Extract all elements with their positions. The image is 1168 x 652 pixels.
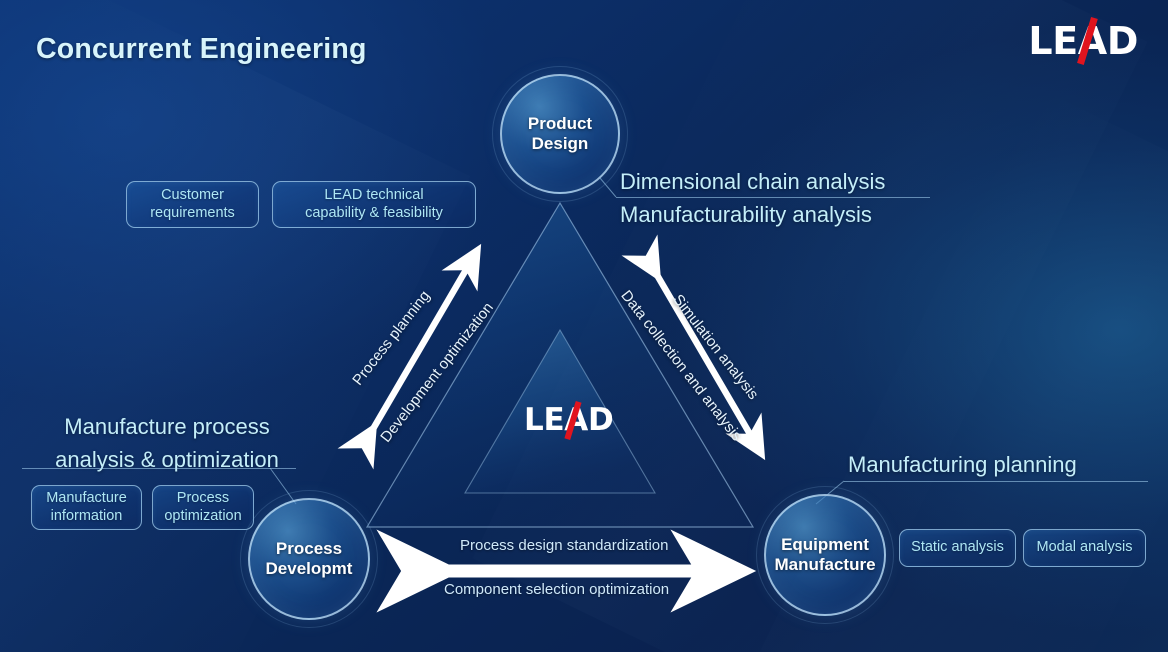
node-label-line2: Design	[528, 134, 592, 154]
arrow-label-process-planning: Process planning	[349, 288, 433, 389]
connector-topright	[600, 178, 616, 197]
rule-top-right	[616, 197, 930, 198]
heading-bottom-right: Manufacturing planning	[848, 448, 1077, 481]
heading-top-right: Dimensional chain analysis Manufacturabi…	[620, 165, 885, 232]
pill-lead-technical-capability[interactable]: LEAD technical capability & feasibility	[272, 181, 476, 228]
heading-line2: analysis & optimization	[22, 443, 312, 476]
node-label-line1: Process	[266, 539, 353, 559]
page-title: Concurrent Engineering	[36, 33, 367, 66]
pill-label-line1: Modal analysis	[1037, 539, 1133, 557]
node-label-line1: Product	[528, 114, 592, 134]
node-label-line1: Equipment	[774, 535, 875, 555]
pill-label-line2: information	[46, 508, 127, 526]
pill-manufacture-information[interactable]: Manufacture information	[31, 485, 142, 530]
heading-line2: Manufacturability analysis	[620, 198, 885, 231]
pill-label-line1: Process	[164, 490, 241, 508]
rule-left	[22, 468, 296, 469]
heading-line1: Manufacturing planning	[848, 448, 1077, 481]
pill-label-line1: LEAD technical	[305, 187, 443, 205]
pill-static-analysis[interactable]: Static analysis	[899, 529, 1016, 567]
node-product-design[interactable]: Product Design	[500, 74, 620, 194]
pill-label-line1: Manufacture	[46, 490, 127, 508]
pill-label-line1: Customer	[150, 187, 235, 205]
node-process-development[interactable]: Process Developmt	[248, 498, 370, 620]
lead-logo-header: LEAD	[1028, 22, 1138, 60]
heading-line1: Manufacture process	[22, 410, 312, 443]
node-label-line2: Manufacture	[774, 555, 875, 575]
node-label-line2: Developmt	[266, 559, 353, 579]
arrow-label-process-design-standardization: Process design standardization	[460, 537, 668, 554]
arrow-label-simulation-analysis: Simulation analysis	[669, 291, 761, 403]
pill-label-line1: Static analysis	[911, 539, 1004, 557]
pill-label-line2: requirements	[150, 205, 235, 223]
lead-logo-center: LEAD	[524, 405, 613, 436]
pill-process-optimization[interactable]: Process optimization	[152, 485, 254, 530]
pill-modal-analysis[interactable]: Modal analysis	[1023, 529, 1146, 567]
outer-triangle	[367, 203, 753, 527]
heading-line1: Dimensional chain analysis	[620, 165, 885, 198]
pill-label-line2: capability & feasibility	[305, 205, 443, 223]
arrow-label-component-selection-optimization: Component selection optimization	[444, 581, 669, 598]
node-equipment-manufacture[interactable]: Equipment Manufacture	[764, 494, 886, 616]
heading-left: Manufacture process analysis & optimizat…	[22, 410, 312, 477]
rule-bottom-right	[844, 481, 1148, 482]
slide-canvas: Concurrent Engineering LEAD	[0, 0, 1168, 652]
pill-label-line2: optimization	[164, 508, 241, 526]
pill-customer-requirements[interactable]: Customer requirements	[126, 181, 259, 228]
